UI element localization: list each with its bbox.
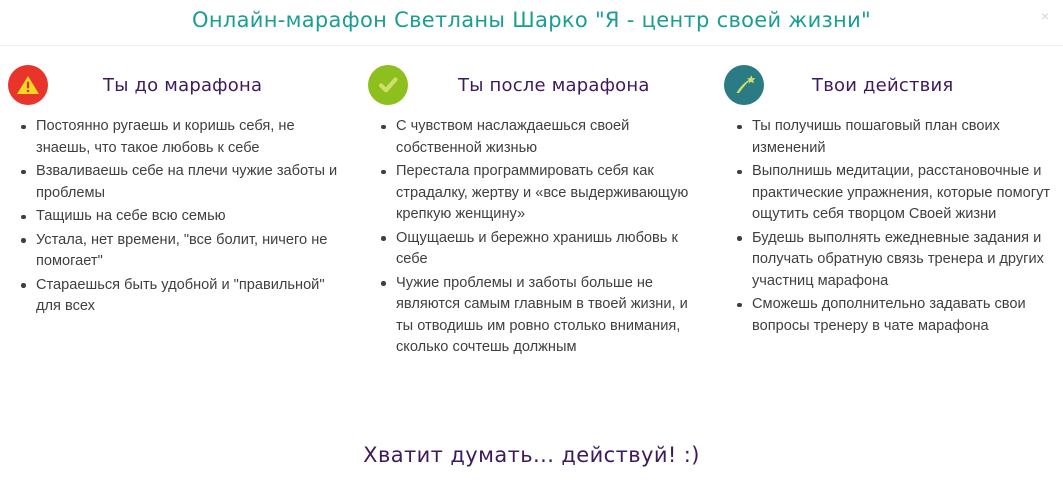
list-item: Тащишь на себе всю семью bbox=[8, 206, 350, 228]
list-item: С чувством наслаждаешься своей собственн… bbox=[368, 116, 706, 159]
list-item: Стараешься быть удобной и "правильной" д… bbox=[8, 275, 350, 318]
popup-header: Онлайн-марафон Светланы Шарко "Я - центр… bbox=[0, 0, 1063, 46]
close-icon[interactable]: × bbox=[1035, 6, 1055, 26]
columns-container: Ты до марафона Постоянно ругаешь и кориш… bbox=[0, 46, 1063, 361]
page-title: Онлайн-марафон Светланы Шарко "Я - центр… bbox=[0, 8, 1063, 32]
points-list-after: С чувством наслаждаешься своей собственн… bbox=[368, 116, 706, 359]
list-item: Перестала программировать себя как страд… bbox=[368, 161, 706, 226]
call-to-action-text: Хватит думать... действуй! :) bbox=[363, 443, 700, 467]
points-list-actions: Ты получишь пошаговый план своих изменен… bbox=[724, 116, 1053, 337]
list-item: Будешь выполнять ежедневные задания и по… bbox=[724, 228, 1053, 293]
shooting-star-icon bbox=[724, 65, 764, 105]
list-item: Чужие проблемы и заботы больше не являют… bbox=[368, 273, 706, 359]
footer: Хватит думать... действуй! :) bbox=[0, 443, 1063, 467]
column-your-actions: Твои действия Ты получишь пошаговый план… bbox=[716, 64, 1063, 339]
list-item: Сможешь дополнительно задавать свои вопр… bbox=[724, 294, 1053, 337]
list-item: Взваливаешь себе на плечи чужие заботы и… bbox=[8, 161, 350, 204]
column-header-before: Ты до марафона bbox=[8, 64, 350, 106]
list-item: Ты получишь пошаговый план своих изменен… bbox=[724, 116, 1053, 159]
points-list-before: Постоянно ругаешь и коришь себя, не знае… bbox=[8, 116, 350, 318]
list-item: Устала, нет времени, "все болит, ничего … bbox=[8, 230, 350, 273]
column-before-marathon: Ты до марафона Постоянно ругаешь и кориш… bbox=[0, 64, 360, 320]
column-after-marathon: Ты после марафона С чувством наслаждаешь… bbox=[360, 64, 716, 361]
list-item: Постоянно ругаешь и коришь себя, не знае… bbox=[8, 116, 350, 159]
list-item: Ощущаешь и бережно хранишь любовь к себе bbox=[368, 228, 706, 271]
column-header-actions: Твои действия bbox=[724, 64, 1053, 106]
column-title-actions: Твои действия bbox=[812, 75, 953, 96]
list-item: Выполнишь медитации, расстановочные и пр… bbox=[724, 161, 1053, 226]
warning-triangle-icon bbox=[8, 65, 48, 105]
column-title-after: Ты после марафона bbox=[458, 75, 650, 96]
column-header-after: Ты после марафона bbox=[368, 64, 706, 106]
check-circle-icon bbox=[368, 65, 408, 105]
column-title-before: Ты до марафона bbox=[103, 75, 262, 96]
